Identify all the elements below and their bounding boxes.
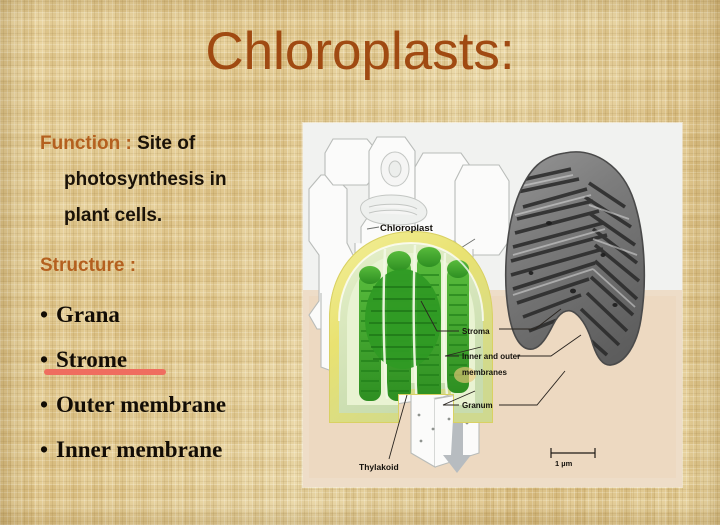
- list-item-label: Inner membrane: [56, 437, 222, 462]
- bullet-icon: •: [40, 438, 48, 461]
- figure-label-granum: Granum: [462, 401, 493, 410]
- function-line-2: photosynthesis in: [40, 162, 290, 198]
- chloroplast-micrograph: [493, 143, 663, 383]
- slide-canvas: Chloroplasts: Function : Site of photosy…: [0, 0, 720, 525]
- figure-label-membranes-line2: membranes: [462, 368, 507, 377]
- function-text-1: Site of: [137, 133, 195, 154]
- list-item-strome: • Strome: [40, 348, 290, 371]
- list-item-label: Outer membrane: [56, 392, 226, 417]
- content-text-column: Function : Site of photosynthesis in pla…: [40, 126, 290, 461]
- list-item-grana: • Grana: [40, 303, 290, 326]
- list-item-inner-membrane: • Inner membrane: [40, 438, 290, 461]
- figure-label-chloroplast: Chloroplast: [380, 223, 433, 234]
- scale-bar: [551, 448, 595, 458]
- bullet-icon: •: [40, 348, 48, 371]
- structure-keyword: Structure :: [40, 251, 290, 281]
- function-keyword: Function :: [40, 133, 132, 154]
- bullet-icon: •: [40, 393, 48, 416]
- function-line-3: plant cells.: [40, 198, 290, 234]
- list-item-outer-membrane: • Outer membrane: [40, 393, 290, 416]
- figure-panel: Chloroplast Stroma Inner and outer membr…: [303, 123, 682, 487]
- strome-highlight-underline: [44, 369, 166, 375]
- function-line-1: Function : Site of: [40, 126, 290, 162]
- figure-label-membranes-line1: Inner and outer: [462, 352, 520, 361]
- figure-scale-bar-label: 1 µm: [555, 459, 572, 468]
- figure-label-stroma: Stroma: [462, 327, 490, 336]
- page-title: Chloroplasts:: [0, 24, 720, 80]
- bullet-icon: •: [40, 303, 48, 326]
- list-item-label: Grana: [56, 302, 120, 327]
- figure-illustration: [303, 123, 682, 487]
- figure-label-thylakoid: Thylakoid: [359, 462, 399, 472]
